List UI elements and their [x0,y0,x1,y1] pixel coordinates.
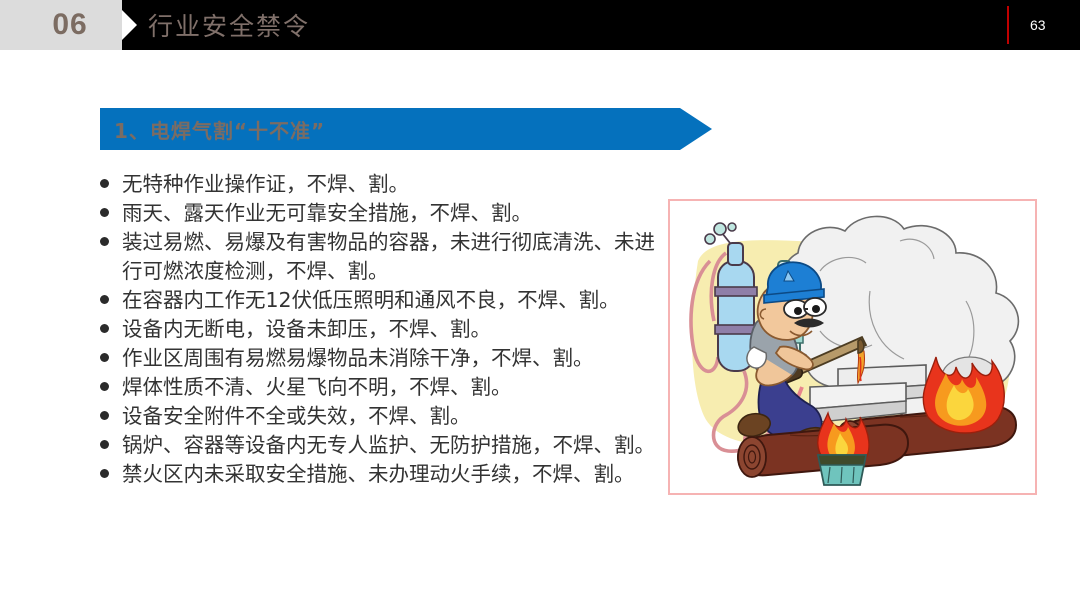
list-item-text: 焊体性质不清、火星飞向不明，不焊、割。 [122,373,660,402]
page-title: 行业安全禁令 [148,0,310,50]
bullet-icon [100,170,122,188]
list-item-text: 设备安全附件不全或失效，不焊、割。 [122,402,660,431]
bullet-icon [100,315,122,333]
bullet-icon [100,431,122,449]
bullet-icon [100,402,122,420]
bullet-icon [100,228,122,246]
list-item: 设备安全附件不全或失效，不焊、割。 [100,402,660,431]
illustration-svg [670,201,1035,493]
list-item-text: 在容器内工作无12伏低压照明和通风不良，不焊、割。 [122,286,660,315]
section-banner: 1、电焊气割“十不准” [100,108,712,150]
list-item-text: 作业区周围有易燃易爆物品未消除干净，不焊、割。 [122,344,660,373]
list-item: 装过易燃、易爆及有害物品的容器，未进行彻底清洗、未进行可燃浓度检测，不焊、割。 [100,228,660,286]
banner-label: 1、电焊气割“十不准” [114,108,325,150]
slide-header: 06 行业安全禁令 63 [0,0,1080,50]
list-item: 禁火区内未采取安全措施、未办理动火手续，不焊、割。 [100,460,660,489]
list-item-text: 雨天、露天作业无可靠安全措施，不焊、割。 [122,199,660,228]
list-item: 焊体性质不清、火星飞向不明，不焊、割。 [100,373,660,402]
list-item-text: 无特种作业操作证，不焊、割。 [122,170,660,199]
bullet-icon [100,286,122,304]
section-number: 06 [0,0,122,50]
bucket-icon [818,455,866,485]
list-item-text: 装过易燃、易爆及有害物品的容器，未进行彻底清洗、未进行可燃浓度检测，不焊、割。 [122,228,660,286]
bullet-icon [100,199,122,217]
list-item: 雨天、露天作业无可靠安全措施，不焊、割。 [100,199,660,228]
bullet-icon [100,373,122,391]
header-divider [1007,6,1009,44]
list-item: 锅炉、容器等设备内无专人监护、无防护措施，不焊、割。 [100,431,660,460]
list-item: 无特种作业操作证，不焊、割。 [100,170,660,199]
list-item: 作业区周围有易燃易爆物品未消除干净，不焊、割。 [100,344,660,373]
list-item-text: 禁火区内未采取安全措施、未办理动火手续，不焊、割。 [122,460,660,489]
list-item: 设备内无断电，设备未卸压，不焊、割。 [100,315,660,344]
bullet-icon [100,344,122,362]
list-item-text: 锅炉、容器等设备内无专人监护、无防护措施，不焊、割。 [122,431,660,460]
rules-list: 无特种作业操作证，不焊、割。 雨天、露天作业无可靠安全措施，不焊、割。 装过易燃… [100,170,660,489]
page-number: 63 [1030,0,1046,50]
list-item: 在容器内工作无12伏低压照明和通风不良，不焊、割。 [100,286,660,315]
slide-root: 06 行业安全禁令 63 1、电焊气割“十不准” 无特种作业操作证，不焊、割。 … [0,0,1080,608]
bullet-icon [100,460,122,478]
safety-illustration [668,199,1037,495]
list-item-text: 设备内无断电，设备未卸压，不焊、割。 [122,315,660,344]
header-arrow-icon [122,10,137,40]
banner-arrow-point [680,108,712,150]
